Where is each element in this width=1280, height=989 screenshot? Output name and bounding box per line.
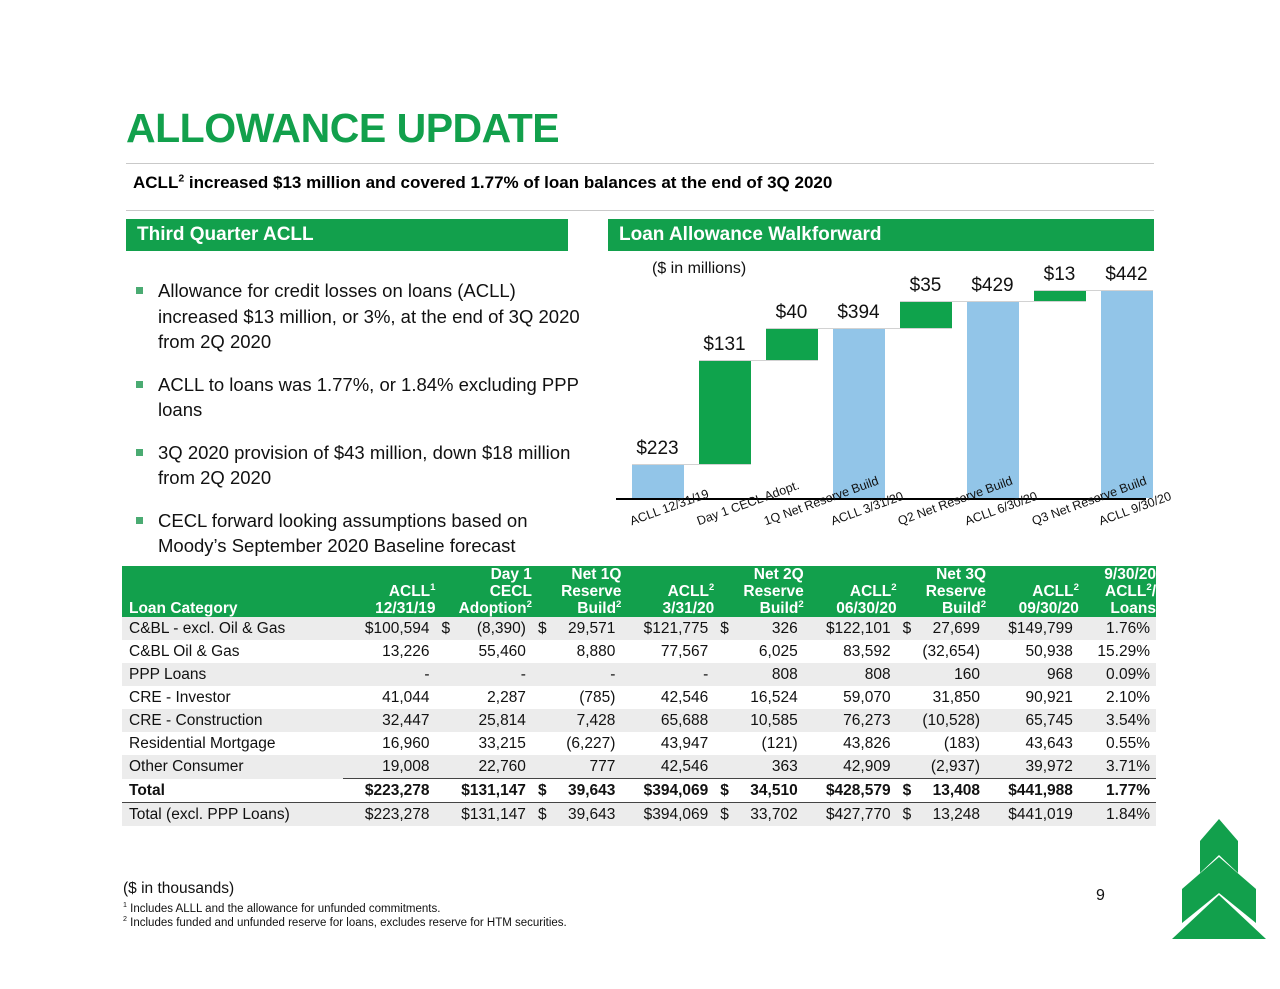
subtitle-post: increased $13 million and covered 1.77% … — [184, 173, 832, 192]
table-cell: $394,069 — [621, 803, 714, 827]
table-cell: 90,921 — [986, 686, 1079, 709]
table-cell: 13,226 — [343, 640, 436, 663]
table-cell-category: Residential Mortgage — [122, 732, 343, 755]
table-cell: $39,643 — [532, 803, 621, 827]
table-cell: 363 — [714, 755, 803, 779]
table-row: Total (excl. PPP Loans)$223,278$131,147$… — [122, 803, 1156, 827]
table-cell: 2,287 — [436, 686, 532, 709]
chart-connector-line — [833, 328, 952, 329]
company-logo-icon — [1160, 815, 1278, 945]
table-cell: $39,643 — [532, 779, 621, 803]
bullet-square-icon — [136, 449, 143, 456]
table-cell-category: Total (excl. PPP Loans) — [122, 803, 343, 827]
chart-bar-fill — [766, 328, 818, 360]
table-cell: 25,814 — [436, 709, 532, 732]
table-cell: $223,278 — [343, 779, 436, 803]
chart-bar-label: $13 — [1044, 264, 1076, 286]
table-cell: $427,770 — [804, 803, 897, 827]
table-cell: (6,227) — [532, 732, 621, 755]
bullet-text: ACLL to loans was 1.77%, or 1.84% exclud… — [158, 374, 579, 421]
table-cell: 808 — [714, 663, 803, 686]
table-cell: $131,147 — [436, 803, 532, 827]
chart-connector-line — [1034, 290, 1153, 291]
chart-bar: $131 — [699, 258, 751, 498]
table-cell: 968 — [986, 663, 1079, 686]
table-cell: $34,510 — [714, 779, 803, 803]
chart-plot-area: $223$131$40$394$35$429$13$442 — [624, 258, 1160, 498]
table-cell: 65,688 — [621, 709, 714, 732]
table-cell: 42,546 — [621, 755, 714, 779]
table-cell: 1.84% — [1079, 803, 1156, 827]
table-cell: $100,594 — [343, 617, 436, 640]
table-cell: - — [532, 663, 621, 686]
chart-bar-label: $40 — [776, 302, 808, 324]
table-cell: $326 — [714, 617, 803, 640]
table-cell: - — [436, 663, 532, 686]
table-cell: 77,567 — [621, 640, 714, 663]
table-cell: - — [343, 663, 436, 686]
bullet-square-icon — [136, 381, 143, 388]
page-number: 9 — [1096, 887, 1105, 905]
table-cell: $27,699 — [897, 617, 986, 640]
section-header-loan-allowance-walkforward: Loan Allowance Walkforward — [608, 219, 1154, 251]
table-cell: 160 — [897, 663, 986, 686]
table-cell: $428,579 — [804, 779, 897, 803]
table-cell: 777 — [532, 755, 621, 779]
table-cell: (2,937) — [897, 755, 986, 779]
table-cell: - — [621, 663, 714, 686]
table-row: Residential Mortgage16,96033,215(6,227)4… — [122, 732, 1156, 755]
table-column-header: ACLL206/30/20 — [804, 566, 897, 617]
chart-bar: $13 — [1034, 258, 1086, 498]
table-cell: 32,447 — [343, 709, 436, 732]
table-cell: $441,019 — [986, 803, 1079, 827]
allowance-table: Loan Category ACLL112/31/19Day 1CECLAdop… — [122, 566, 1156, 826]
table-cell: $33,702 — [714, 803, 803, 827]
table-cell: 2.10% — [1079, 686, 1156, 709]
table-cell-category: PPP Loans — [122, 663, 343, 686]
table-cell: (10,528) — [897, 709, 986, 732]
table-cell: 39,972 — [986, 755, 1079, 779]
table-cell: $441,988 — [986, 779, 1079, 803]
table-row: C&BL Oil & Gas13,22655,4608,88077,5676,0… — [122, 640, 1156, 663]
chart-bar-fill — [1101, 290, 1153, 498]
table-cell: $223,278 — [343, 803, 436, 827]
bullet-list: Allowance for credit losses on loans (AC… — [128, 278, 580, 576]
footnote-one: 1 Includes ALLL and the allowance for un… — [123, 903, 440, 915]
table-cell: 22,760 — [436, 755, 532, 779]
table-cell: $13,408 — [897, 779, 986, 803]
divider-below-subtitle — [126, 210, 1154, 211]
chart-bar: $442 — [1101, 258, 1153, 498]
table-column-header: 9/30/20ACLL2/Loans — [1079, 566, 1156, 617]
table-column-header: Day 1CECLAdoption2 — [436, 566, 532, 617]
table-cell: 76,273 — [804, 709, 897, 732]
table-cell: $394,069 — [621, 779, 714, 803]
table-row: PPP Loans----8088081609680.09% — [122, 663, 1156, 686]
chart-bar-label: $131 — [703, 334, 745, 356]
table-cell: 0.55% — [1079, 732, 1156, 755]
section-header-left-label: Third Quarter ACLL — [137, 224, 314, 246]
table-cell: 42,909 — [804, 755, 897, 779]
table-row: Total$223,278$131,147$39,643$394,069$34,… — [122, 779, 1156, 803]
table-cell: 41,044 — [343, 686, 436, 709]
slide: ALLOWANCE UPDATE ACLL2 increased $13 mil… — [0, 0, 1280, 989]
table-cell: 16,960 — [343, 732, 436, 755]
chart-bar-label: $35 — [910, 275, 942, 297]
table-cell: 43,947 — [621, 732, 714, 755]
chart-bar-fill — [632, 464, 684, 498]
table-cell: 1.76% — [1079, 617, 1156, 640]
table-cell: $122,101 — [804, 617, 897, 640]
table-cell: 3.54% — [1079, 709, 1156, 732]
list-item: Allowance for credit losses on loans (AC… — [128, 278, 580, 355]
divider-top — [126, 163, 1154, 164]
table-cell: 8,880 — [532, 640, 621, 663]
table-cell: 43,826 — [804, 732, 897, 755]
bullet-text: Allowance for credit losses on loans (AC… — [158, 280, 580, 352]
bullet-text: CECL forward looking assumptions based o… — [158, 510, 528, 557]
page-title: ALLOWANCE UPDATE — [126, 105, 559, 152]
chart-bar-fill — [967, 301, 1019, 498]
table-cell: 65,745 — [986, 709, 1079, 732]
table-cell: $(8,390) — [436, 617, 532, 640]
bullet-square-icon — [136, 517, 143, 524]
table-row: CRE - Construction32,44725,8147,42865,68… — [122, 709, 1156, 732]
footnote-two: 2 Includes funded and unfunded reserve f… — [123, 917, 567, 929]
table-cell: $149,799 — [986, 617, 1079, 640]
table-column-header: Net 1QReserveBuild2 — [532, 566, 621, 617]
chart-connector-line — [699, 360, 818, 361]
table-cell: 59,070 — [804, 686, 897, 709]
table-cell-category: Total — [122, 779, 343, 803]
table-row: Other Consumer19,00822,76077742,54636342… — [122, 755, 1156, 779]
chart-bar: $394 — [833, 258, 885, 498]
table-cell: 31,850 — [897, 686, 986, 709]
table-cell: 43,643 — [986, 732, 1079, 755]
section-header-right-label: Loan Allowance Walkforward — [619, 224, 882, 246]
footnote-two-text: Includes funded and unfunded reserve for… — [127, 917, 567, 929]
table-cell-category: Other Consumer — [122, 755, 343, 779]
table-cell-category: CRE - Investor — [122, 686, 343, 709]
chart-bar: $35 — [900, 258, 952, 498]
chart-bar: $429 — [967, 258, 1019, 498]
table-cell: (121) — [714, 732, 803, 755]
thousands-note: ($ in thousands) — [123, 880, 234, 898]
bullet-square-icon — [136, 287, 143, 294]
table-cell-category: C&BL Oil & Gas — [122, 640, 343, 663]
table-cell: 808 — [804, 663, 897, 686]
table-header-row: Loan Category ACLL112/31/19Day 1CECLAdop… — [122, 566, 1156, 617]
table-column-header: Loan Category — [122, 566, 343, 617]
chart-connector-line — [967, 301, 1086, 302]
table-cell: $131,147 — [436, 779, 532, 803]
table-cell: 16,524 — [714, 686, 803, 709]
table-cell: $13,248 — [897, 803, 986, 827]
table-cell: $29,571 — [532, 617, 621, 640]
chart-bar-label: $394 — [837, 302, 879, 324]
table-cell: 1.77% — [1079, 779, 1156, 803]
table-cell: 7,428 — [532, 709, 621, 732]
table-column-header: ACLL209/30/20 — [986, 566, 1079, 617]
chart-bar-label: $223 — [636, 438, 678, 460]
table-cell: (183) — [897, 732, 986, 755]
chart-bar: $223 — [632, 258, 684, 498]
table-cell: 55,460 — [436, 640, 532, 663]
chart-bar-fill — [833, 328, 885, 498]
list-item: 3Q 2020 provision of $43 million, down $… — [128, 440, 580, 491]
chart-connector-line — [632, 464, 751, 465]
chart-bar: $40 — [766, 258, 818, 498]
table-column-header: Net 2QReserveBuild2 — [714, 566, 803, 617]
list-item: ACLL to loans was 1.77%, or 1.84% exclud… — [128, 372, 580, 423]
table-row: C&BL - excl. Oil & Gas$100,594$(8,390)$2… — [122, 617, 1156, 640]
table-column-header: Net 3QReserveBuild2 — [897, 566, 986, 617]
chart-bar-fill — [900, 301, 952, 329]
table-cell: 42,546 — [621, 686, 714, 709]
table-head: Loan Category ACLL112/31/19Day 1CECLAdop… — [122, 566, 1156, 617]
table-cell: 3.71% — [1079, 755, 1156, 779]
table-cell: $121,775 — [621, 617, 714, 640]
table-cell: 10,585 — [714, 709, 803, 732]
waterfall-chart: ($ in millions) $223$131$40$394$35$429$1… — [600, 258, 1160, 558]
table-cell: 33,215 — [436, 732, 532, 755]
table-cell: (32,654) — [897, 640, 986, 663]
chart-bar-fill — [699, 360, 751, 464]
table-column-header: ACLL23/31/20 — [621, 566, 714, 617]
table-cell-category: CRE - Construction — [122, 709, 343, 732]
table-cell: 83,592 — [804, 640, 897, 663]
bullet-text: 3Q 2020 provision of $43 million, down $… — [158, 442, 570, 489]
table-column-header: ACLL112/31/19 — [343, 566, 436, 617]
table-cell: (785) — [532, 686, 621, 709]
footnote-one-text: Includes ALLL and the allowance for unfu… — [127, 903, 440, 915]
table-cell: 19,008 — [343, 755, 436, 779]
table-cell: 0.09% — [1079, 663, 1156, 686]
table-cell: 50,938 — [986, 640, 1079, 663]
table-cell: 15.29% — [1079, 640, 1156, 663]
chart-bar-label: $442 — [1105, 264, 1147, 286]
table-cell-category: C&BL - excl. Oil & Gas — [122, 617, 343, 640]
subtitle-pre: ACLL — [133, 173, 178, 192]
subtitle: ACLL2 increased $13 million and covered … — [133, 173, 832, 193]
table-cell: 6,025 — [714, 640, 803, 663]
chart-x-axis-labels: ACLL 12/31/19Day 1 CECL Adopt.1Q Net Res… — [624, 501, 1160, 561]
list-item: CECL forward looking assumptions based o… — [128, 508, 580, 559]
chart-bar-label: $429 — [971, 275, 1013, 297]
table-row: CRE - Investor41,0442,287(785)42,54616,5… — [122, 686, 1156, 709]
table-body: C&BL - excl. Oil & Gas$100,594$(8,390)$2… — [122, 617, 1156, 826]
section-header-third-quarter-acll: Third Quarter ACLL — [126, 219, 568, 251]
